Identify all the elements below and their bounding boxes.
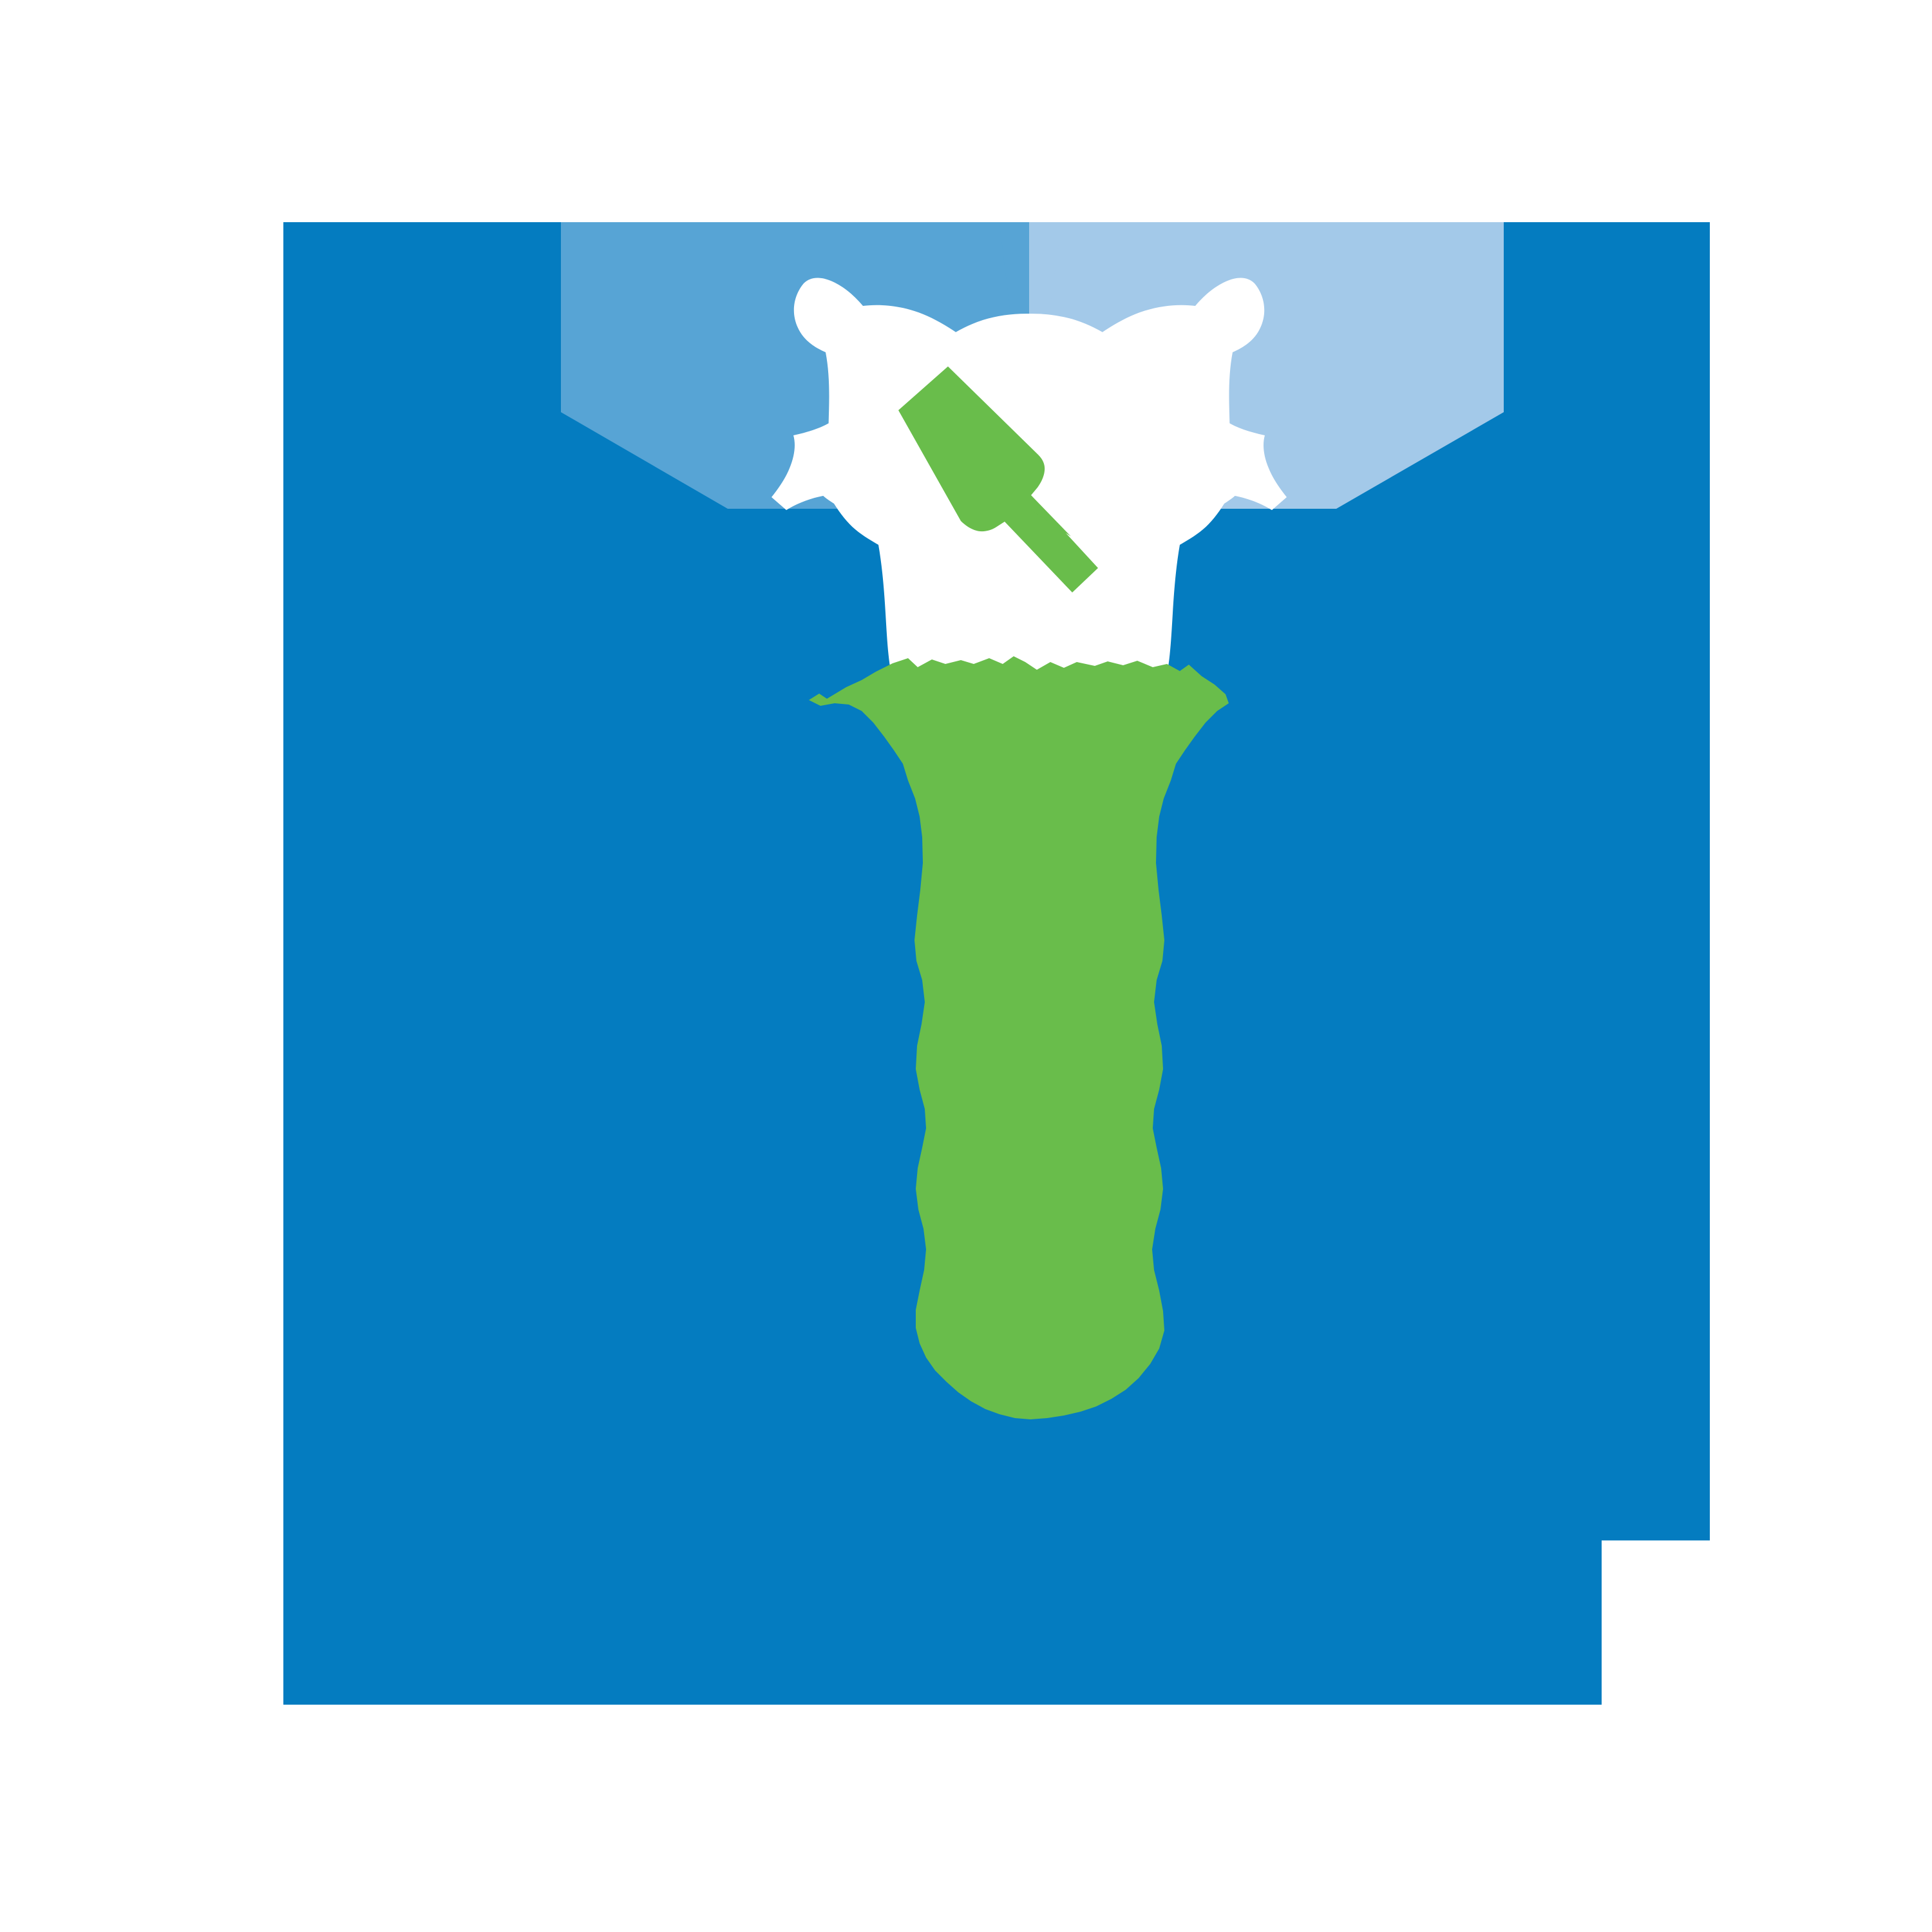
logo-canvas [0,0,1932,1932]
brand-emblem [0,0,1932,1932]
